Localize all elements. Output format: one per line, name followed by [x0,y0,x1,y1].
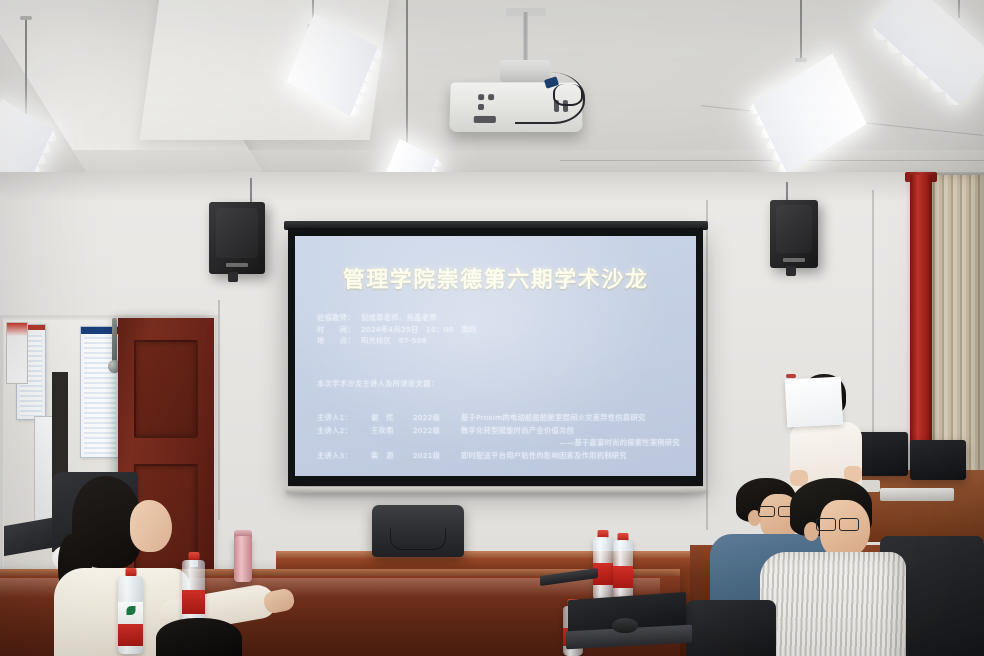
slide-meta-value: 倪成章老师、肖晶老师 [361,313,437,322]
projector-button [478,104,484,110]
face [130,500,172,552]
glasses-icon [839,518,859,531]
glasses-icon [816,518,836,531]
presenter-row: 主讲人2： 王欢雨 2022级 数字化转型赋能时尚产业价值共创 [317,425,682,438]
bottle-label [118,602,143,625]
desktop-monitor [910,440,966,480]
projector-button [488,94,494,100]
slide-meta-block: 驻值教师：倪成章老师、肖晶老师 时 间：2024年4月25日 10：00 周四 … [317,312,476,347]
slide-meta-row: 时 间：2024年4月25日 10：00 周四 [317,324,476,336]
wall-shadow [0,172,984,202]
conference-room-photo: 管理学院崇德第六期学术沙龙 驻值教师：倪成章老师、肖晶老师 时 间：2024年4… [0,0,984,656]
presenter-row-continuation: ——基于嘉宴时尚的探索性案例研究 [317,437,682,450]
presenter-role: 主讲人1： [317,412,371,425]
wall-panel-line [706,200,708,530]
presenter-topic: 即时配送平台用户粘性的影响因素及作用机制研究 [461,450,682,463]
presenter-role: 主讲人3： [317,450,371,463]
ceiling-beam-horizontal [0,150,984,172]
presenter-grade: 2022级 [413,412,461,425]
door-panel-upper [134,340,198,438]
slide-meta-value: 阳光校区 07-506 [361,336,427,345]
printed-paper [785,377,843,428]
poster-red-strip [6,322,28,384]
presenter-name: 柴 源 [371,450,413,463]
slide-meta-label: 时 间： [317,324,361,336]
office-chair[interactable] [686,600,776,656]
presenter-role: 主讲人2： [317,425,371,438]
slide-meta-row: 驻值教师：倪成章老师、肖晶老师 [317,312,476,324]
presenter-name: 王欢雨 [371,425,413,438]
head-foreground-silhouette [156,618,242,656]
water-bottle[interactable] [118,576,143,654]
presenter-name: 谢 优 [371,412,413,425]
slide-title: 管理学院崇德第六期学术沙龙 [295,262,696,294]
presentation-slide: 管理学院崇德第六期学术沙龙 驻值教师：倪成章老师、肖晶老师 时 间：2024年4… [295,236,696,476]
water-bottle[interactable] [613,540,633,602]
bottle-label-red [118,624,143,646]
projector-mount-rod [523,12,528,64]
slide-meta-value: 2024年4月25日 10：00 周四 [361,325,476,334]
presenter-grade: 2021级 [413,450,461,463]
slide-meta-row: 地 点：阳光校区 07-506 [317,335,476,347]
red-pillar [910,175,932,475]
lips [786,374,796,378]
screen-bottom-bar [286,487,706,493]
projector-port [474,116,496,123]
pink-thermos[interactable] [234,536,252,582]
computer-mouse[interactable] [612,618,638,633]
presenter-row: 主讲人1： 谢 优 2022级 基于Prosim的电动船舶船舱室层间火灾差异性仿… [317,412,682,425]
presenter-topic-continuation: ——基于嘉宴时尚的探索性案例研究 [317,437,682,450]
glasses-icon [758,506,775,517]
projector-button [478,94,484,100]
slide-subtitle: 本次学术沙龙主讲人及所述论文题： [317,379,438,389]
door-closer [112,318,117,366]
presenter-row: 主讲人3： 柴 源 2021级 即时配送平台用户粘性的影响因素及作用机制研究 [317,450,682,463]
presenter-topic: 基于Prosim的电动船舶船舱室层间火灾差异性仿真研究 [461,412,682,425]
projector-cable [553,84,583,106]
office-chair-seam [390,528,446,550]
striped-shirt [760,552,906,656]
projection-screen: 管理学院崇德第六期学术沙龙 驻值教师：倪成章老师、肖晶老师 时 间：2024年4… [288,228,703,486]
slide-meta-label: 驻值教师： [317,312,361,324]
bottle-label-red [613,566,633,588]
presenter-grade: 2022级 [413,425,461,438]
bottle-cap [188,552,199,560]
slide-presenter-list: 主讲人1： 谢 优 2022级 基于Prosim的电动船舶船舱室层间火灾差异性仿… [317,412,682,462]
leaf-icon [126,606,135,615]
slide-meta-label: 地 点： [317,335,361,347]
presenter-topic: 数字化转型赋能时尚产业价值共创 [461,425,682,438]
man-seated-striped [774,478,934,656]
bottle-label-red [182,590,205,614]
bottle-cap [125,568,136,576]
